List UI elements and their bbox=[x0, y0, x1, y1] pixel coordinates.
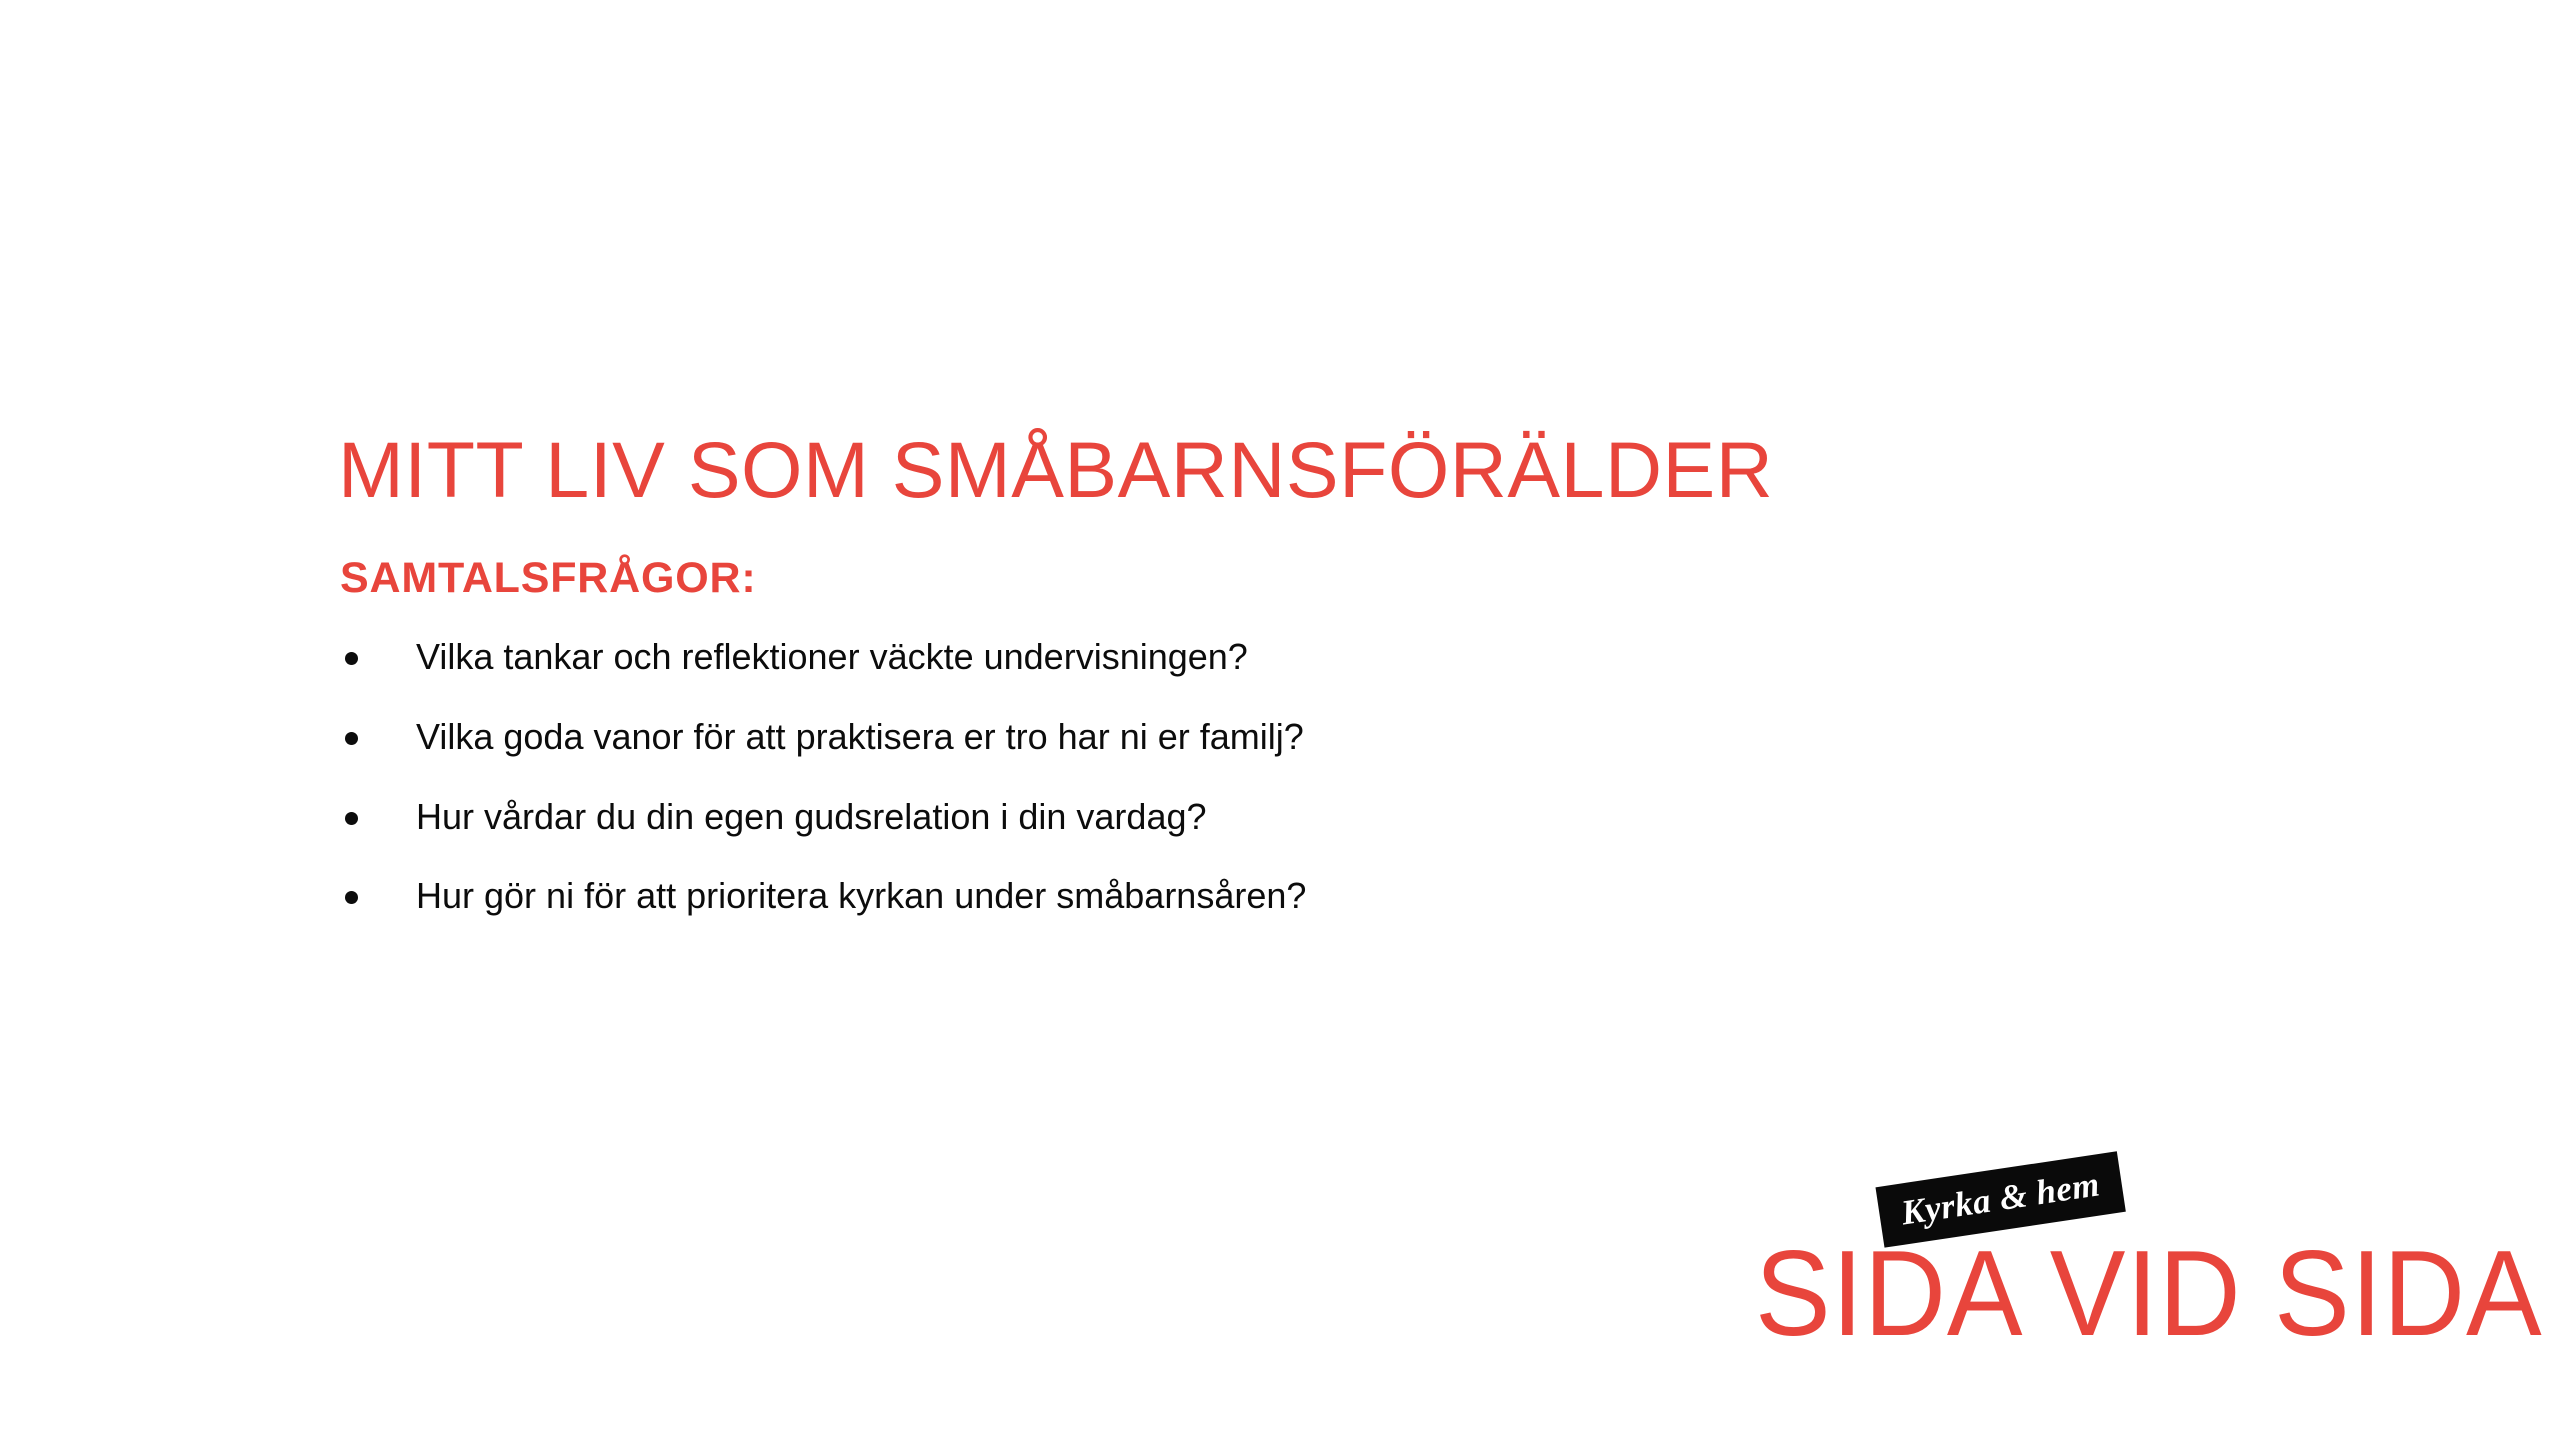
bullet-dot-icon bbox=[345, 891, 358, 904]
bullet-dot-icon bbox=[345, 652, 358, 665]
questions-heading: SAMTALSFRÅGOR: bbox=[340, 557, 2038, 600]
presentation-slide: MITT LIV SOM SMÅBARNSFÖRÄLDER SAMTALSFRÅ… bbox=[0, 0, 2560, 1440]
brand-logo: SIDA VID SIDA Kyrka & hem bbox=[1755, 1185, 2525, 1365]
page-title: MITT LIV SOM SMÅBARNSFÖRÄLDER bbox=[338, 430, 2038, 509]
list-item: Vilka goda vanor för att praktisera er t… bbox=[338, 714, 2038, 761]
list-item-label: Vilka tankar och reflektioner väckte und… bbox=[416, 636, 1248, 677]
slide-content-block: MITT LIV SOM SMÅBARNSFÖRÄLDER SAMTALSFRÅ… bbox=[338, 430, 2038, 920]
logo-wordmark: SIDA VID SIDA bbox=[1755, 1232, 2543, 1354]
discussion-questions-list: Vilka tankar och reflektioner väckte und… bbox=[338, 634, 2038, 920]
list-item: Hur vårdar du din egen gudsrelation i di… bbox=[338, 794, 2038, 841]
list-item-label: Hur gör ni för att prioritera kyrkan und… bbox=[416, 875, 1306, 916]
bullet-dot-icon bbox=[345, 732, 358, 745]
list-item-label: Hur vårdar du din egen gudsrelation i di… bbox=[416, 796, 1207, 837]
list-item-label: Vilka goda vanor för att praktisera er t… bbox=[416, 716, 1304, 757]
bullet-dot-icon bbox=[345, 812, 358, 825]
list-item: Vilka tankar och reflektioner väckte und… bbox=[338, 634, 2038, 681]
list-item: Hur gör ni för att prioritera kyrkan und… bbox=[338, 873, 2038, 920]
